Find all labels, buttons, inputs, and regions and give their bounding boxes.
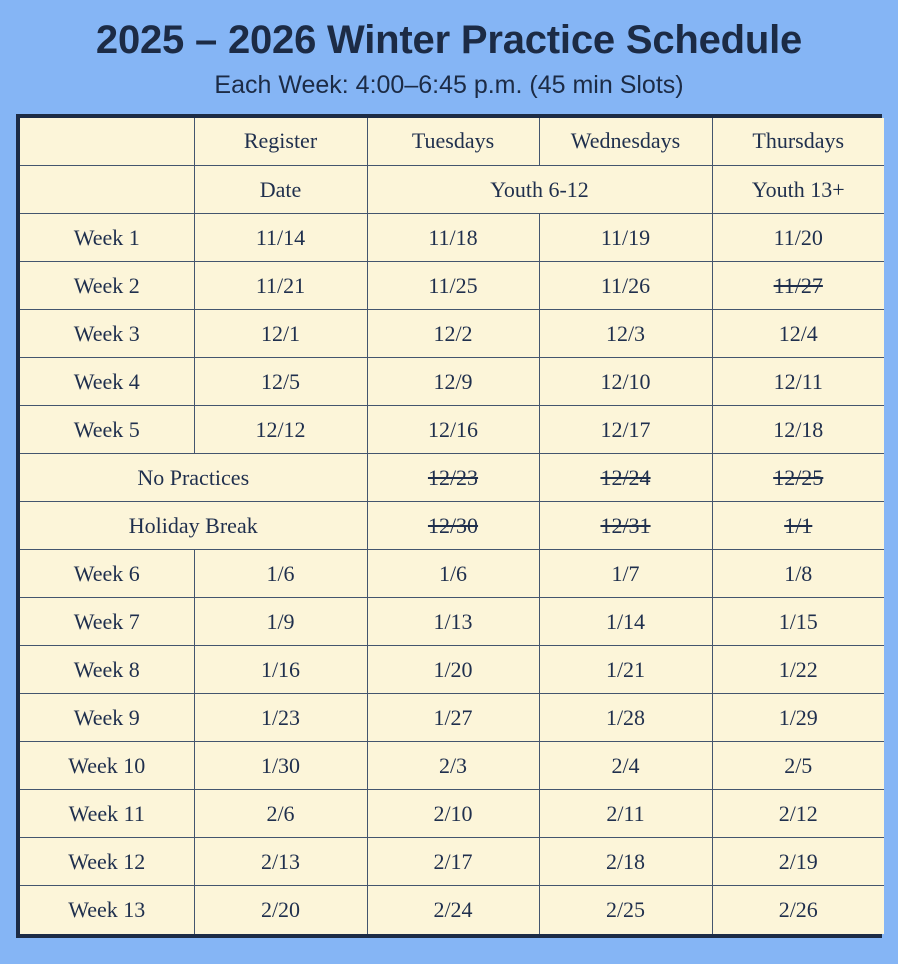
table-row: Week 91/231/271/281/29 bbox=[20, 694, 884, 742]
column-header-wed: Wednesdays bbox=[539, 118, 712, 166]
practice-date-wed: 1/21 bbox=[539, 646, 712, 694]
week-label: Week 6 bbox=[20, 550, 194, 598]
table-row: Week 61/61/61/71/8 bbox=[20, 550, 884, 598]
table-subheader-row: DateYouth 6-12Youth 13+ bbox=[20, 166, 884, 214]
week-label: Week 7 bbox=[20, 598, 194, 646]
practice-date-wed: 12/10 bbox=[539, 358, 712, 406]
practice-date-tue: 11/18 bbox=[367, 214, 539, 262]
practice-date-tue: 1/6 bbox=[367, 550, 539, 598]
practice-date-thu: 11/27 bbox=[712, 262, 884, 310]
break-label: No Practices bbox=[20, 454, 367, 502]
practice-date-tue: 2/17 bbox=[367, 838, 539, 886]
practice-date-tue: 1/20 bbox=[367, 646, 539, 694]
practice-date-thu: 1/8 bbox=[712, 550, 884, 598]
break-row: Holiday Break12/3012/311/1 bbox=[20, 502, 884, 550]
practice-date-tue: 2/10 bbox=[367, 790, 539, 838]
schedule-table-body: RegisterTuesdaysWednesdaysThursdaysDateY… bbox=[20, 118, 884, 934]
register-date: 11/14 bbox=[194, 214, 367, 262]
practice-date-wed: 1/7 bbox=[539, 550, 712, 598]
table-row: Week 101/302/32/42/5 bbox=[20, 742, 884, 790]
practice-date-wed: 2/4 bbox=[539, 742, 712, 790]
break-row: No Practices12/2312/2412/25 bbox=[20, 454, 884, 502]
practice-date-wed: 11/19 bbox=[539, 214, 712, 262]
page-title: 2025 – 2026 Winter Practice Schedule bbox=[96, 18, 802, 62]
subheader-youth-6-12: Youth 6-12 bbox=[367, 166, 712, 214]
week-label: Week 12 bbox=[20, 838, 194, 886]
schedule-table-container: RegisterTuesdaysWednesdaysThursdaysDateY… bbox=[16, 114, 882, 938]
week-label: Week 11 bbox=[20, 790, 194, 838]
practice-date-tue: 2/3 bbox=[367, 742, 539, 790]
schedule-page: 2025 – 2026 Winter Practice Schedule Eac… bbox=[0, 0, 898, 964]
page-subtitle: Each Week: 4:00–6:45 p.m. (45 min Slots) bbox=[214, 72, 683, 100]
subheader-youth-13-plus: Youth 13+ bbox=[712, 166, 884, 214]
column-header-tue: Tuesdays bbox=[367, 118, 539, 166]
practice-date-thu: 12/11 bbox=[712, 358, 884, 406]
register-date: 1/30 bbox=[194, 742, 367, 790]
subheader-register-date: Date bbox=[194, 166, 367, 214]
table-row: Week 211/2111/2511/2611/27 bbox=[20, 262, 884, 310]
table-row: Week 81/161/201/211/22 bbox=[20, 646, 884, 694]
week-label: Week 9 bbox=[20, 694, 194, 742]
register-date: 1/16 bbox=[194, 646, 367, 694]
week-label: Week 8 bbox=[20, 646, 194, 694]
practice-date-wed: 12/31 bbox=[539, 502, 712, 550]
practice-date-wed: 1/14 bbox=[539, 598, 712, 646]
practice-date-thu: 12/25 bbox=[712, 454, 884, 502]
practice-date-thu: 2/26 bbox=[712, 886, 884, 934]
practice-date-thu: 12/18 bbox=[712, 406, 884, 454]
break-label: Holiday Break bbox=[20, 502, 367, 550]
register-date: 12/5 bbox=[194, 358, 367, 406]
practice-date-thu: 2/19 bbox=[712, 838, 884, 886]
practice-date-tue: 12/23 bbox=[367, 454, 539, 502]
practice-date-tue: 12/16 bbox=[367, 406, 539, 454]
register-date: 2/6 bbox=[194, 790, 367, 838]
practice-date-wed: 12/3 bbox=[539, 310, 712, 358]
table-row: Week 71/91/131/141/15 bbox=[20, 598, 884, 646]
practice-date-wed: 2/11 bbox=[539, 790, 712, 838]
table-row: Week 111/1411/1811/1911/20 bbox=[20, 214, 884, 262]
table-row: Week 412/512/912/1012/11 bbox=[20, 358, 884, 406]
practice-date-thu: 1/22 bbox=[712, 646, 884, 694]
table-row: Week 122/132/172/182/19 bbox=[20, 838, 884, 886]
practice-date-tue: 12/2 bbox=[367, 310, 539, 358]
week-label: Week 1 bbox=[20, 214, 194, 262]
register-date: 1/9 bbox=[194, 598, 367, 646]
table-row: Week 132/202/242/252/26 bbox=[20, 886, 884, 934]
practice-date-thu: 12/4 bbox=[712, 310, 884, 358]
practice-date-tue: 1/13 bbox=[367, 598, 539, 646]
practice-date-tue: 1/27 bbox=[367, 694, 539, 742]
table-row: Week 512/1212/1612/1712/18 bbox=[20, 406, 884, 454]
table-row: Week 312/112/212/312/4 bbox=[20, 310, 884, 358]
register-date: 1/23 bbox=[194, 694, 367, 742]
column-header-thu: Thursdays bbox=[712, 118, 884, 166]
practice-date-wed: 12/17 bbox=[539, 406, 712, 454]
practice-date-thu: 1/1 bbox=[712, 502, 884, 550]
practice-date-wed: 2/18 bbox=[539, 838, 712, 886]
practice-date-tue: 12/30 bbox=[367, 502, 539, 550]
schedule-table: RegisterTuesdaysWednesdaysThursdaysDateY… bbox=[20, 118, 884, 934]
week-label: Week 13 bbox=[20, 886, 194, 934]
practice-date-tue: 11/25 bbox=[367, 262, 539, 310]
register-date: 12/1 bbox=[194, 310, 367, 358]
practice-date-wed: 11/26 bbox=[539, 262, 712, 310]
practice-date-thu: 2/5 bbox=[712, 742, 884, 790]
column-header-reg: Register bbox=[194, 118, 367, 166]
table-row: Week 112/62/102/112/12 bbox=[20, 790, 884, 838]
week-label: Week 2 bbox=[20, 262, 194, 310]
week-label: Week 3 bbox=[20, 310, 194, 358]
register-date: 1/6 bbox=[194, 550, 367, 598]
register-date: 12/12 bbox=[194, 406, 367, 454]
week-label: Week 5 bbox=[20, 406, 194, 454]
practice-date-thu: 1/15 bbox=[712, 598, 884, 646]
practice-date-wed: 1/28 bbox=[539, 694, 712, 742]
subheader-cell-blank bbox=[20, 166, 194, 214]
register-date: 11/21 bbox=[194, 262, 367, 310]
week-label: Week 10 bbox=[20, 742, 194, 790]
register-date: 2/20 bbox=[194, 886, 367, 934]
practice-date-wed: 2/25 bbox=[539, 886, 712, 934]
register-date: 2/13 bbox=[194, 838, 367, 886]
week-label: Week 4 bbox=[20, 358, 194, 406]
practice-date-thu: 1/29 bbox=[712, 694, 884, 742]
practice-date-tue: 2/24 bbox=[367, 886, 539, 934]
header-cell-blank bbox=[20, 118, 194, 166]
practice-date-thu: 2/12 bbox=[712, 790, 884, 838]
table-header-row: RegisterTuesdaysWednesdaysThursdays bbox=[20, 118, 884, 166]
practice-date-tue: 12/9 bbox=[367, 358, 539, 406]
practice-date-thu: 11/20 bbox=[712, 214, 884, 262]
practice-date-wed: 12/24 bbox=[539, 454, 712, 502]
